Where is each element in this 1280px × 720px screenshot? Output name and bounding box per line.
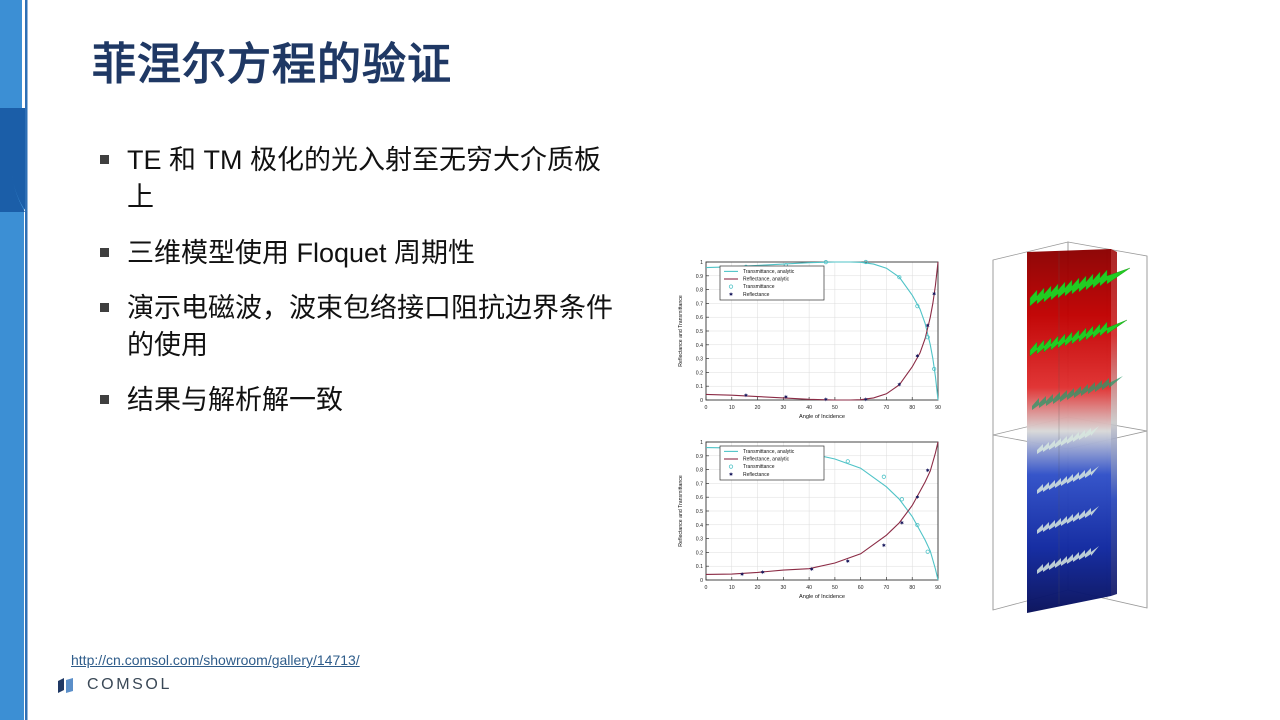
x-tick-label: 10 [729, 585, 735, 591]
ribbon-edge-line [25, 0, 28, 720]
y-tick-label: 0.3 [696, 357, 703, 363]
x-tick-label: 90 [935, 405, 941, 411]
x-tick-label: 0 [705, 405, 708, 411]
list-item: 三维模型使用 Floquet 周期性 [100, 235, 620, 272]
left-decorative-ribbon [0, 0, 30, 720]
source-link[interactable]: http://cn.comsol.com/showroom/gallery/14… [71, 652, 360, 668]
legend-label: Reflectance, analytic [743, 277, 790, 283]
legend-label: Transmittance [743, 464, 775, 470]
y-axis-label: Reflectance and Transmittance [678, 295, 684, 367]
x-tick-label: 30 [780, 585, 786, 591]
y-tick-label: 0.7 [696, 301, 703, 307]
bullet-text: 三维模型使用 Floquet 周期性 [127, 235, 475, 272]
x-tick-label: 20 [755, 585, 761, 591]
legend-label: Transmittance [743, 284, 775, 290]
y-tick-label: 0.6 [696, 495, 703, 501]
x-tick-label: 30 [780, 405, 786, 411]
page-title: 菲涅尔方程的验证 [92, 28, 452, 92]
legend-label: Reflectance [743, 472, 770, 478]
y-tick-label: 0.5 [696, 329, 703, 335]
y-tick-label: 0.9 [696, 454, 703, 460]
bullet-text: 结果与解析解一致 [127, 382, 343, 419]
y-tick-label: 0.8 [696, 288, 703, 294]
y-tick-label: 0.7 [696, 481, 703, 487]
y-tick-label: 0.2 [696, 370, 703, 376]
fresnel-3d-model [975, 238, 1170, 633]
x-tick-label: 50 [832, 585, 838, 591]
y-tick-label: 0.3 [696, 537, 703, 543]
y-tick-label: 1 [700, 260, 703, 266]
legend-label: Transmittance, analytic [743, 449, 795, 455]
x-tick-label: 70 [884, 405, 890, 411]
y-tick-label: 0 [700, 398, 703, 404]
chart-legend: Transmittance, analyticReflectance, anal… [720, 266, 824, 300]
x-tick-label: 60 [858, 585, 864, 591]
x-tick-label: 10 [729, 405, 735, 411]
x-tick-label: 90 [935, 585, 941, 591]
x-tick-label: 0 [705, 585, 708, 591]
square-bullet-icon [100, 395, 109, 404]
x-tick-label: 40 [806, 585, 812, 591]
legend-label: Reflectance, analytic [743, 457, 790, 463]
x-axis-label: Angle of Incidence [799, 414, 845, 420]
y-tick-label: 0.4 [696, 343, 703, 349]
ribbon-dark-shape [0, 108, 25, 212]
x-tick-label: 70 [884, 585, 890, 591]
x-tick-label: 80 [909, 585, 915, 591]
bullet-text: TE 和 TM 极化的光入射至无穷大介质板上 [127, 142, 620, 217]
legend-label: Reflectance [743, 292, 770, 298]
chart-tm-polarization: 010203040506070809000.10.20.30.40.50.60.… [670, 252, 945, 430]
y-tick-label: 0.6 [696, 315, 703, 321]
y-axis-label: Reflectance and Transmittance [678, 475, 684, 547]
x-tick-label: 20 [755, 405, 761, 411]
series-markers-reflectance [744, 292, 936, 402]
x-tick-label: 60 [858, 405, 864, 411]
x-axis-label: Angle of Incidence [799, 594, 845, 600]
comsol-mark-icon [58, 678, 80, 693]
chart-legend: Transmittance, analyticReflectance, anal… [720, 446, 824, 480]
y-tick-label: 0.1 [696, 384, 703, 390]
bullet-text: 演示电磁波，波束包络接口阻抗边界条件的使用 [127, 290, 620, 365]
x-tick-label: 50 [832, 405, 838, 411]
list-item: TE 和 TM 极化的光入射至无穷大介质板上 [100, 142, 620, 217]
square-bullet-icon [100, 248, 109, 257]
y-tick-label: 0 [700, 578, 703, 584]
comsol-wordmark: COMSOL [87, 676, 172, 694]
y-tick-label: 0.9 [696, 274, 703, 280]
bullet-list: TE 和 TM 极化的光入射至无穷大介质板上 三维模型使用 Floquet 周期… [100, 142, 620, 438]
comsol-logo: COMSOL [58, 676, 172, 694]
y-tick-label: 0.2 [696, 550, 703, 556]
chart-te-polarization: 010203040506070809000.10.20.30.40.50.60.… [670, 432, 945, 610]
legend-label: Transmittance, analytic [743, 269, 795, 275]
x-tick-label: 80 [909, 405, 915, 411]
square-bullet-icon [100, 303, 109, 312]
list-item: 演示电磁波，波束包络接口阻抗边界条件的使用 [100, 290, 620, 365]
y-tick-label: 0.1 [696, 564, 703, 570]
y-tick-label: 0.5 [696, 509, 703, 515]
square-bullet-icon [100, 155, 109, 164]
list-item: 结果与解析解一致 [100, 382, 620, 419]
y-tick-label: 1 [700, 440, 703, 446]
y-tick-label: 0.4 [696, 523, 703, 529]
x-tick-label: 40 [806, 405, 812, 411]
y-tick-label: 0.8 [696, 468, 703, 474]
